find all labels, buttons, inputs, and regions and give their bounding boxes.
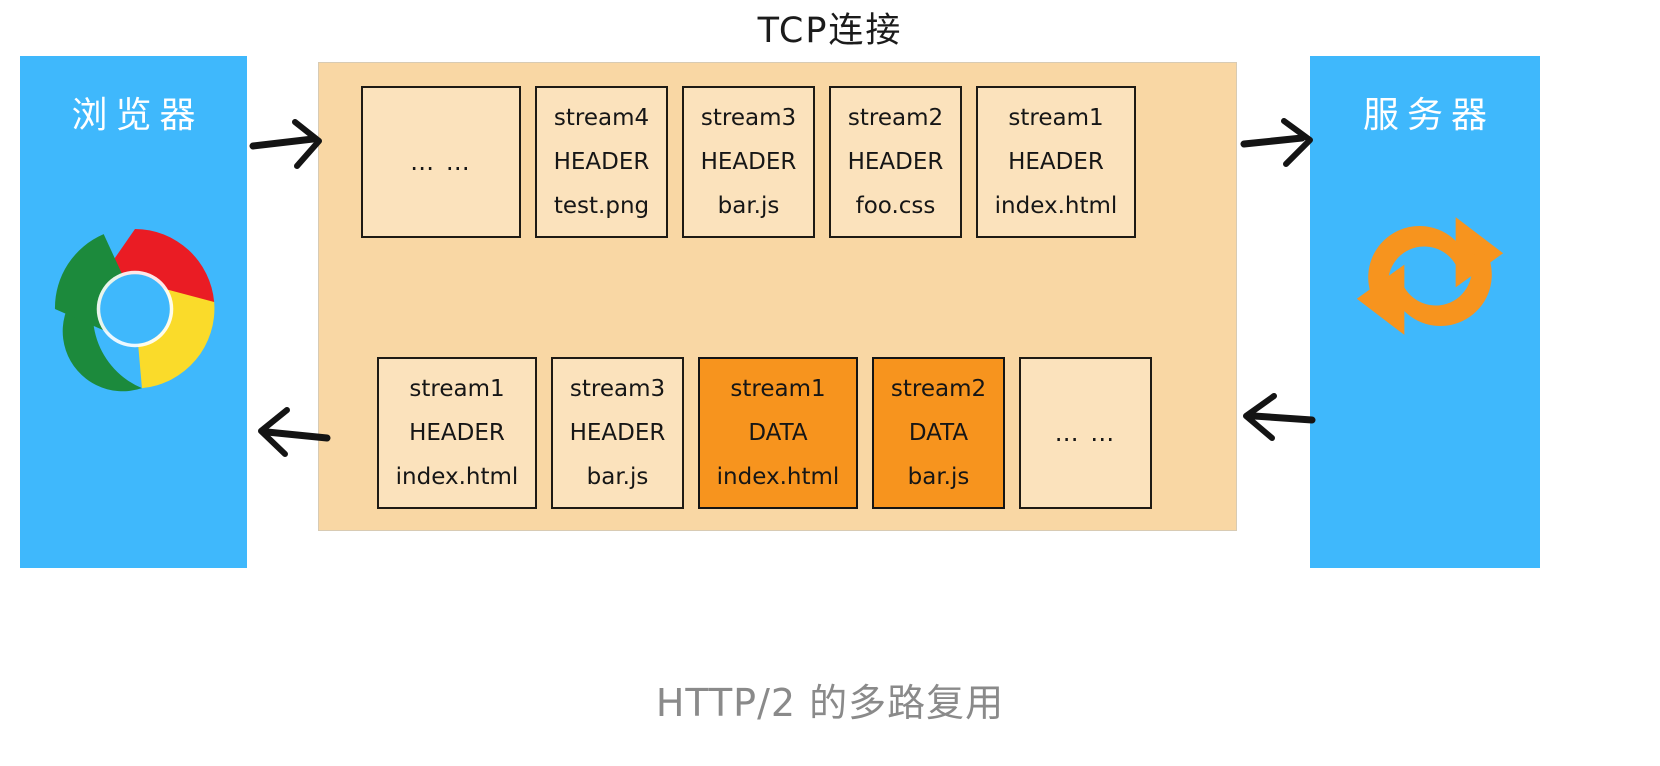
arrow-right-icon-request-left [247, 112, 333, 176]
frame-box-stream4-header: stream4 HEADER test.png [535, 86, 668, 238]
tcp-connection-title: TCP连接 [0, 2, 1660, 53]
frame-box-stream1-header-response: stream1 HEADER index.html [377, 357, 537, 509]
sync-arrows-icon [1348, 200, 1512, 352]
frame-box-stream1-header: stream1 HEADER index.html [976, 86, 1136, 238]
server-label: 服务器 [1355, 86, 1495, 138]
frame-box-stream1-data: stream1 DATA index.html [698, 357, 858, 509]
tcp-connection-container: … … stream4 HEADER test.png stream3 HEAD… [318, 62, 1237, 531]
frame-box-stream3-header: stream3 HEADER bar.js [682, 86, 815, 238]
frame-box-ellipsis-response: … … [1019, 357, 1152, 509]
frame-box-stream2-header: stream2 HEADER foo.css [829, 86, 962, 238]
arrow-left-icon-response-left [247, 396, 333, 460]
request-frame-row: … … stream4 HEADER test.png stream3 HEAD… [361, 86, 1150, 238]
frame-box-stream3-header-response: stream3 HEADER bar.js [551, 357, 684, 509]
browser-label: 浏览器 [63, 86, 203, 138]
diagram-caption: HTTP/2 的多路复用 [0, 672, 1660, 727]
arrow-left-icon-response-right [1232, 390, 1318, 454]
chrome-logo-icon [48, 222, 222, 396]
arrow-right-icon-request-right [1240, 112, 1322, 174]
frame-box-ellipsis: … … [361, 86, 521, 238]
frame-box-stream2-data: stream2 DATA bar.js [872, 357, 1005, 509]
response-frame-row: stream1 HEADER index.html stream3 HEADER… [377, 357, 1166, 509]
